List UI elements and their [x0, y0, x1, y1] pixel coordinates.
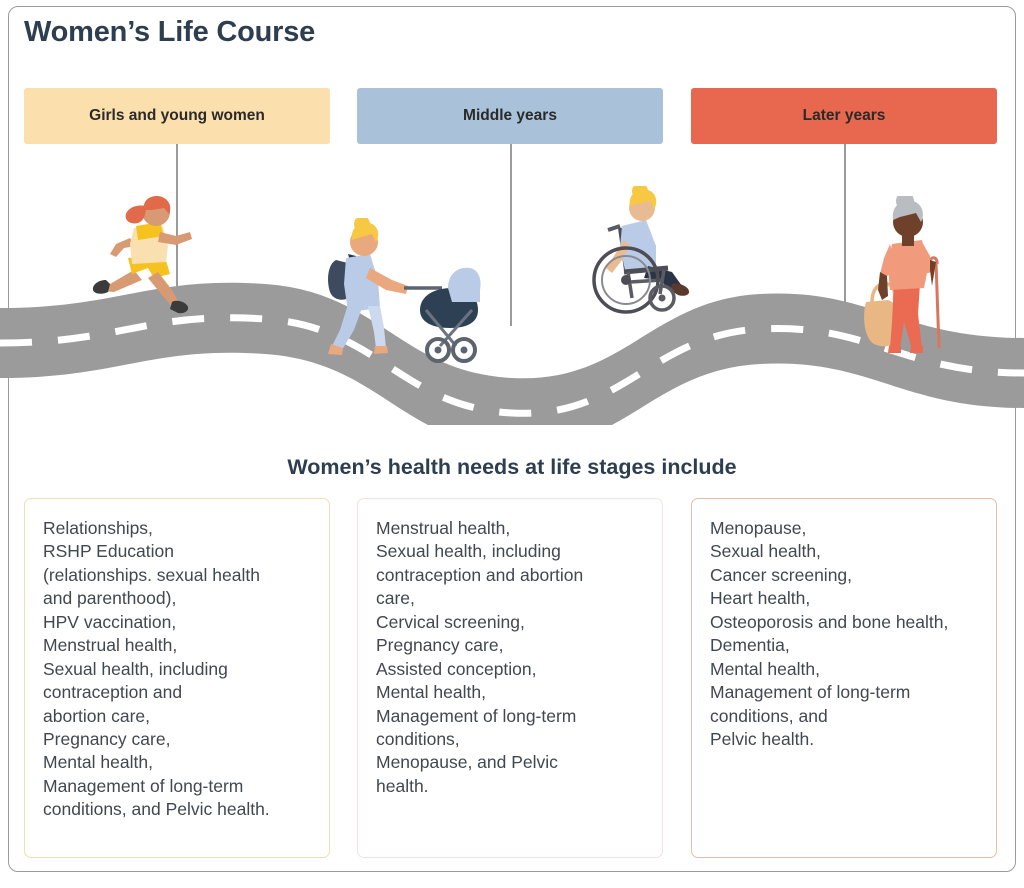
needs-line: Sexual health,: [710, 540, 982, 563]
needs-line: (relationships. sexual health: [43, 564, 315, 587]
figure-running-young-woman: [80, 192, 208, 329]
needs-line: and parenthood),: [43, 587, 315, 610]
needs-line: Assisted conception,: [376, 658, 648, 681]
needs-line: Menopause,: [710, 517, 982, 540]
womens-life-course-infographic: Women’s Life Course Girls and young wome…: [0, 0, 1024, 888]
needs-line: Pregnancy care,: [376, 634, 648, 657]
figure-older-woman-with-bag-and-cane: [860, 196, 970, 363]
needs-line: health.: [376, 775, 648, 798]
needs-line: abortion care,: [43, 705, 315, 728]
section-heading: Women’s health needs at life stages incl…: [0, 455, 1024, 480]
needs-line: Management of long-term: [43, 775, 315, 798]
needs-line: Mental health,: [376, 681, 648, 704]
needs-line: Sexual health, including: [43, 658, 315, 681]
page-title: Women’s Life Course: [24, 16, 315, 49]
stage-badge-later-years[interactable]: Later years: [691, 88, 997, 144]
needs-line: Pregnancy care,: [43, 728, 315, 751]
needs-line: contraception and: [43, 681, 315, 704]
needs-line: conditions,: [376, 728, 648, 751]
needs-line: Menopause, and Pelvic: [376, 751, 648, 774]
needs-line: Dementia,: [710, 634, 982, 657]
stage-badge-label: Middle years: [463, 107, 557, 125]
needs-line: Cervical screening,: [376, 611, 648, 634]
stage-badge-middle-years[interactable]: Middle years: [357, 88, 663, 144]
needs-line: Mental health,: [710, 658, 982, 681]
needs-line: Heart health,: [710, 587, 982, 610]
needs-line: care,: [376, 587, 648, 610]
needs-line: Osteoporosis and bone health,: [710, 611, 982, 634]
running-young-woman-icon: [80, 192, 208, 324]
needs-line: Mental health,: [43, 751, 315, 774]
needs-line: Menstrual health,: [376, 517, 648, 540]
needs-card-middle-years: Menstrual health, Sexual health, includi…: [357, 498, 663, 858]
needs-line: Cancer screening,: [710, 564, 982, 587]
woman-with-pram-icon: [322, 218, 482, 366]
figure-woman-in-wheelchair: [586, 186, 712, 323]
needs-line: Management of long-term: [376, 705, 648, 728]
woman-in-wheelchair-icon: [586, 186, 712, 318]
needs-card-later-years: Menopause, Sexual health, Cancer screeni…: [691, 498, 997, 858]
needs-card-girls-and-young-women: Relationships, RSHP Education (relations…: [24, 498, 330, 858]
needs-line: Menstrual health,: [43, 634, 315, 657]
needs-line: conditions, and: [710, 705, 982, 728]
needs-line: Relationships,: [43, 517, 315, 540]
needs-line: RSHP Education: [43, 540, 315, 563]
needs-line: Sexual health, including: [376, 540, 648, 563]
older-woman-with-bag-and-cane-icon: [860, 196, 970, 358]
stage-badge-label: Girls and young women: [89, 107, 265, 125]
needs-line: Pelvic health.: [710, 728, 982, 751]
needs-line: contraception and abortion: [376, 564, 648, 587]
stage-badge-girls-and-young-women[interactable]: Girls and young women: [24, 88, 330, 144]
needs-line: Management of long-term: [710, 681, 982, 704]
stage-badge-label: Later years: [803, 107, 886, 125]
needs-line: conditions, and Pelvic health.: [43, 798, 315, 821]
needs-line: HPV vaccination,: [43, 611, 315, 634]
figure-woman-with-pram: [322, 218, 482, 371]
